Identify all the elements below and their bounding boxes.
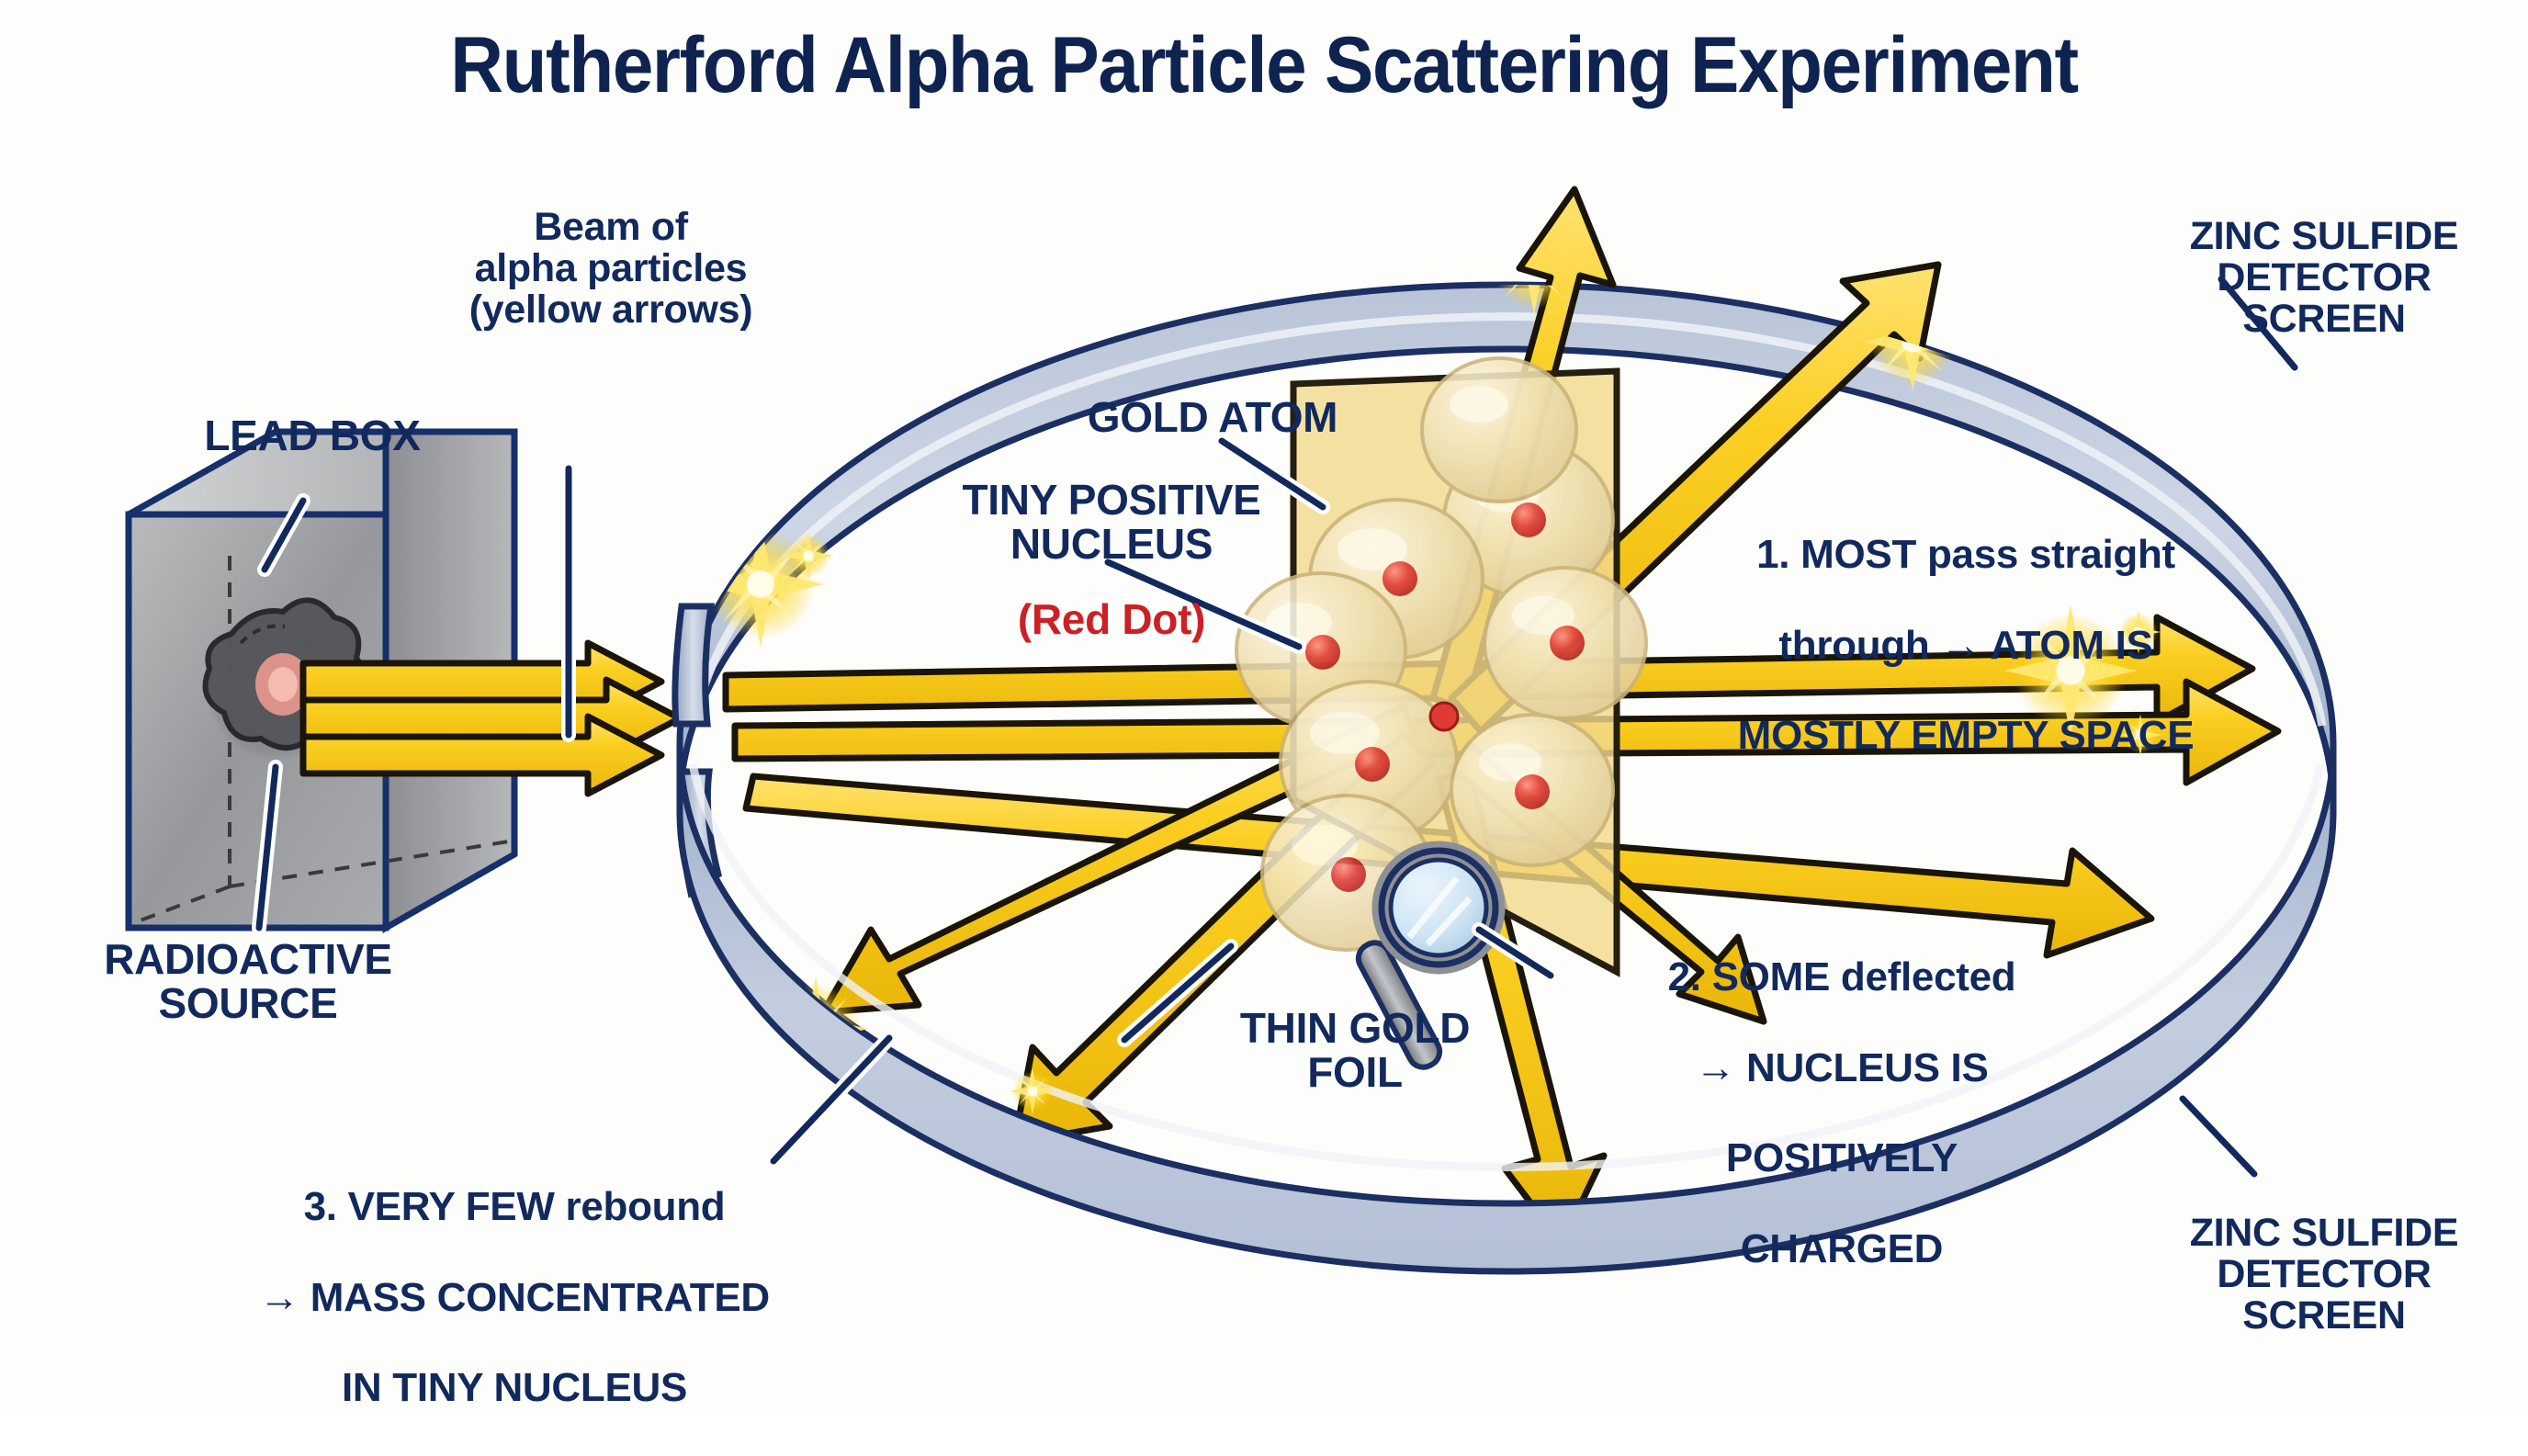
note-3-line-1: 3. VERY FEW rebound [220, 1184, 808, 1229]
alpha-beam-arrows [303, 643, 680, 794]
diagram-canvas: Rutherford Alpha Particle Scattering Exp… [0, 0, 2528, 1411]
note-2-line-4: CHARGED [1594, 1226, 2090, 1271]
note-2-some-deflected: 2. SOME deflected → NUCLEUS IS POSITIVEL… [1594, 909, 2090, 1316]
label-red-dot: (Red Dot) [928, 597, 1295, 641]
label-radioactive-source: RADIOACTIVE SOURCE [64, 937, 432, 1026]
note-2-line-2: → NUCLEUS IS [1594, 1045, 2090, 1090]
detector-flash-icon [2040, 337, 2090, 387]
note-1-line-3: MOSTLY EMPTY SPACE [1681, 713, 2251, 758]
label-thin-gold-foil: THIN GOLD FOIL [1203, 1006, 1507, 1095]
note-3-line-3: IN TINY NUCLEUS [220, 1365, 808, 1410]
label-lead-box: LEAD BOX [175, 413, 450, 457]
note-3-very-few-rebound: 3. VERY FEW rebound → MASS CONCENTRATED … [220, 1139, 808, 1456]
note-3-line-2: → MASS CONCENTRATED [220, 1275, 808, 1320]
note-1-line-2: through → ATOM IS [1681, 623, 2251, 668]
page-title: Rutherford Alpha Particle Scattering Exp… [88, 20, 2439, 111]
note-2-line-3: POSITIVELY [1594, 1135, 2090, 1180]
label-tiny-positive-nucleus: TINY POSITIVE NUCLEUS [928, 478, 1295, 567]
label-beam-of-alpha-particles: Beam of alpha particles (yellow arrows) [459, 207, 762, 331]
label-detector-screen-top: ZINC SULFIDE DETECTOR SCREEN [2140, 216, 2508, 340]
note-1-most-pass-straight: 1. MOST pass straight through → ATOM IS … [1681, 487, 2251, 804]
note-2-line-1: 2. SOME deflected [1594, 954, 2090, 999]
note-1-line-1: 1. MOST pass straight [1681, 532, 2251, 577]
label-gold-atom: GOLD ATOM [1056, 395, 1369, 439]
label-detector-screen-bottom: ZINC SULFIDE DETECTOR SCREEN [2140, 1213, 2508, 1337]
